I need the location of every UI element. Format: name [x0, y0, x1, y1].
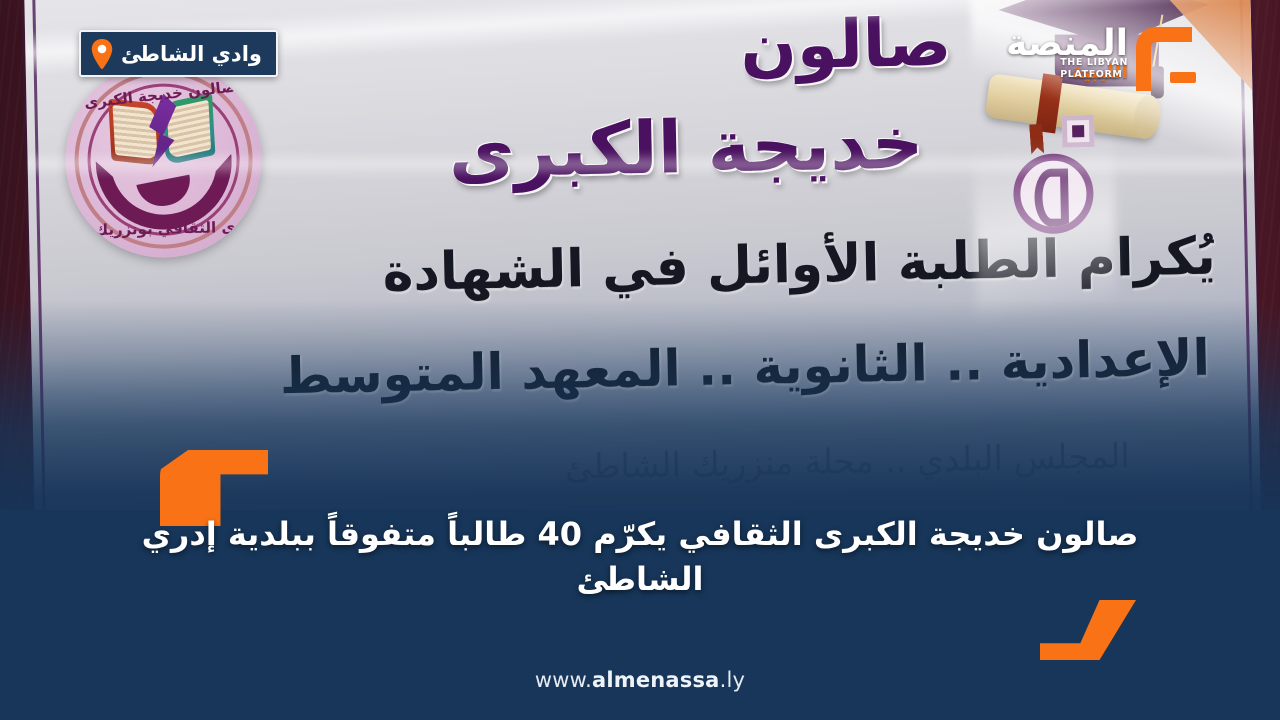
tick-shape — [1170, 72, 1196, 83]
screenshot-root: صالون خديجة الكبرى يُكرام الطلبة الأوائل… — [0, 0, 1280, 720]
location-badge: وادي الشاطئ — [79, 30, 278, 77]
channel-logo: المنصة الليبية THE LIBYAN PLATFORM — [968, 18, 1200, 90]
headline-text: صالون خديجة الكبرى الثقافي يكرّم 40 طالب… — [120, 512, 1160, 603]
url-name: almenassa — [592, 668, 720, 692]
brand-english-name: THE LIBYAN PLATFORM — [1060, 57, 1128, 81]
brand-english-line1: THE LIBYAN — [1060, 57, 1128, 68]
url-tld: .ly — [720, 668, 746, 692]
almenassa-hook-mark-icon — [1134, 21, 1200, 87]
url-prefix: www. — [535, 668, 592, 692]
channel-logo-wordmark: المنصة الليبية THE LIBYAN PLATFORM — [968, 18, 1128, 90]
website-url: www.almenassa.ly — [0, 668, 1280, 692]
location-badge-label: وادي الشاطئ — [121, 42, 262, 66]
quote-bracket-close-icon — [1040, 600, 1136, 660]
banner-title-line2: خديجة الكبرى — [448, 100, 924, 194]
brand-english-line2: PLATFORM — [1060, 69, 1122, 80]
map-pin-icon — [91, 39, 113, 69]
hook-shape — [1136, 27, 1192, 67]
